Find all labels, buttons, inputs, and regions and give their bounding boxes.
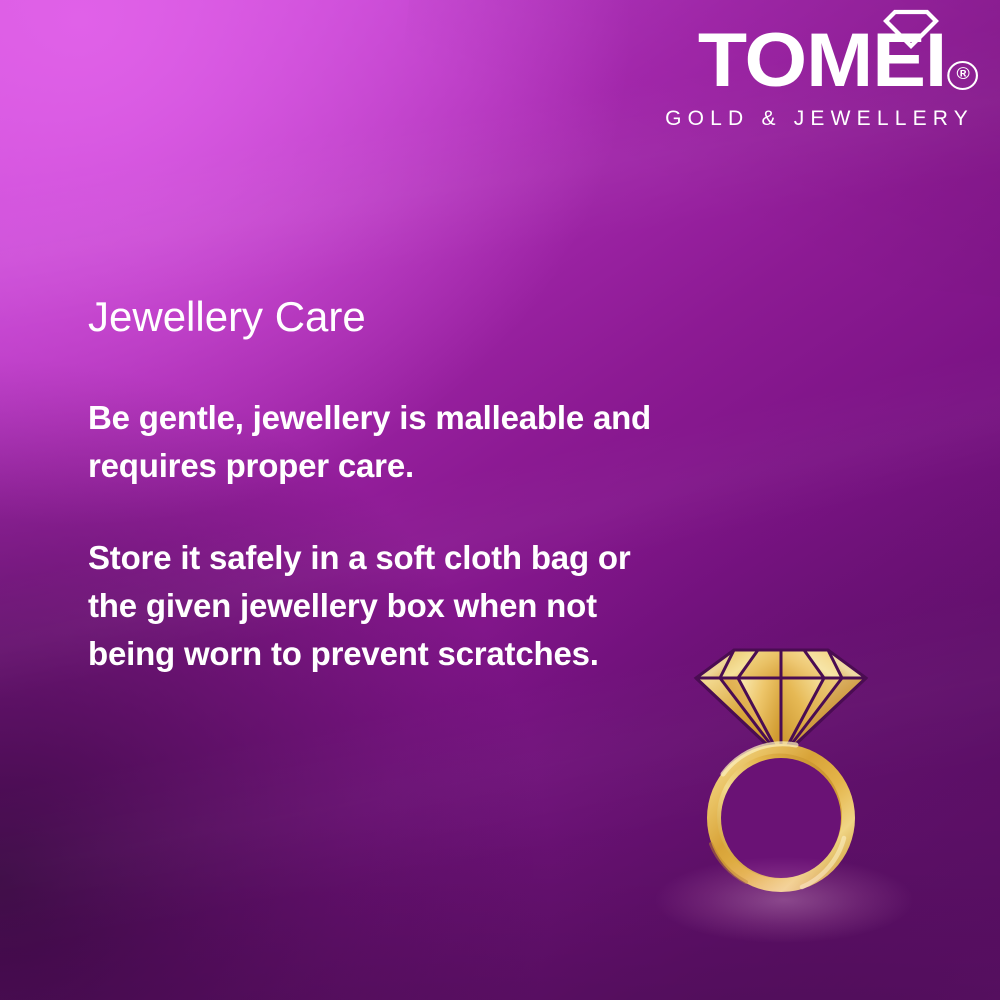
care-paragraph-1: Be gentle, jewellery is malleable and re…	[88, 394, 688, 490]
poster-canvas: TOMEI ® GOLD & JEWELLERY Jewellery Care …	[0, 0, 1000, 1000]
brand-wordmark: TOMEI ®	[628, 22, 978, 100]
diamond-ring-illustration	[676, 628, 886, 928]
page-title: Jewellery Care	[88, 292, 688, 342]
gold-ring-band-icon	[707, 744, 855, 892]
brand-tagline: GOLD & JEWELLERY	[648, 104, 978, 134]
care-paragraph-2: Store it safely in a soft cloth bag or t…	[88, 534, 688, 678]
brand-wordmark-text: TOMEI	[698, 18, 946, 103]
registered-trademark-icon: ®	[947, 61, 978, 90]
care-copy-block: Jewellery Care Be gentle, jewellery is m…	[88, 292, 688, 678]
brand-logo: TOMEI ® GOLD & JEWELLERY	[648, 22, 978, 134]
diamond-ring-svg	[676, 628, 886, 928]
